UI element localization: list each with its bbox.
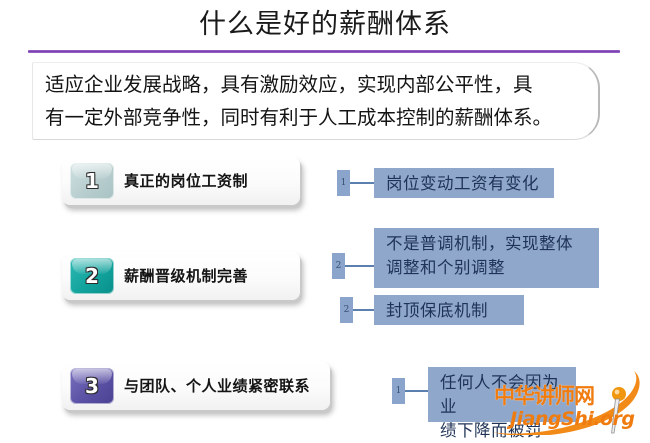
callout-marker: 1 — [392, 378, 405, 404]
list-item[interactable]: 2 薪酬晋级机制完善 — [62, 252, 300, 300]
callout-marker: 2 — [340, 297, 353, 323]
microphone-icon — [602, 386, 632, 435]
number-badge-label: 3 — [70, 368, 114, 404]
callout-connector — [405, 390, 428, 392]
number-badge-label: 2 — [70, 258, 114, 294]
callout-connector — [353, 309, 374, 311]
list-item[interactable]: 1 真正的岗位工资制 — [62, 157, 300, 205]
number-badge-label: 1 — [70, 163, 114, 199]
title-divider — [28, 50, 620, 53]
slide-canvas: 什么是好的薪酬体系 适应企业发展战略，具有激励效应，实现内部公平性，具 有一定外… — [0, 0, 650, 435]
number-badge: 3 — [70, 368, 114, 404]
callout-marker: 1 — [337, 170, 350, 196]
callout-box[interactable]: 岗位变动工资有变化 — [374, 168, 554, 198]
number-badge: 2 — [70, 258, 114, 294]
page-title: 什么是好的薪酬体系 — [0, 8, 650, 42]
list-item[interactable]: 3 与团队、个人业绩紧密联系 — [62, 362, 330, 410]
callout-connector — [350, 182, 374, 184]
callout-box[interactable]: 任何人不会因为业 绩下降而被罚 — [428, 367, 576, 422]
callout-connector — [345, 265, 374, 267]
list-item-label: 真正的岗位工资制 — [124, 157, 248, 205]
list-item-label: 薪酬晋级机制完善 — [124, 252, 248, 300]
callout-box[interactable]: 不是普调机制，实现整体 调整和个别调整 — [374, 228, 599, 288]
number-badge: 1 — [70, 163, 114, 199]
callout-marker: 2 — [332, 253, 345, 279]
intro-text: 适应企业发展战略，具有激励效应，实现内部公平性，具 有一定外部竞争性，同时有利于… — [45, 68, 605, 134]
list-item-label: 与团队、个人业绩紧密联系 — [124, 362, 310, 410]
callout-box[interactable]: 封顶保底机制 — [374, 295, 524, 325]
